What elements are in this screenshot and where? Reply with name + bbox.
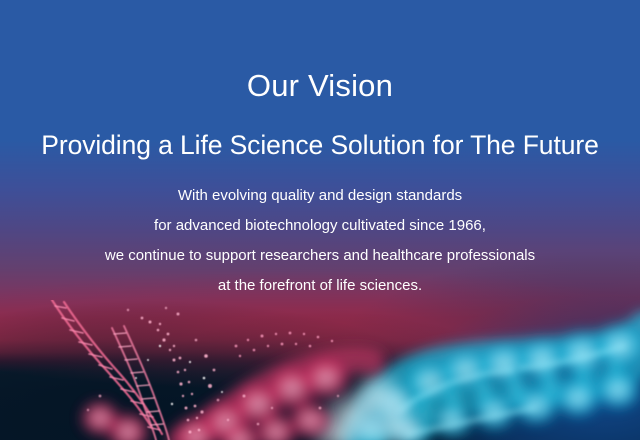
hero-copy: Our Vision Providing a Life Science Solu… xyxy=(0,0,640,440)
body-line: we continue to support researchers and h… xyxy=(0,241,640,271)
vision-hero-banner: Our Vision Providing a Life Science Solu… xyxy=(0,0,640,440)
vision-body-text: With evolving quality and design standar… xyxy=(0,181,640,301)
body-line: With evolving quality and design standar… xyxy=(0,181,640,211)
body-line: for advanced biotechnology cultivated si… xyxy=(0,211,640,241)
page-subtitle: Providing a Life Science Solution for Th… xyxy=(0,132,640,159)
body-line: at the forefront of life sciences. xyxy=(0,271,640,301)
page-title: Our Vision xyxy=(0,70,640,101)
